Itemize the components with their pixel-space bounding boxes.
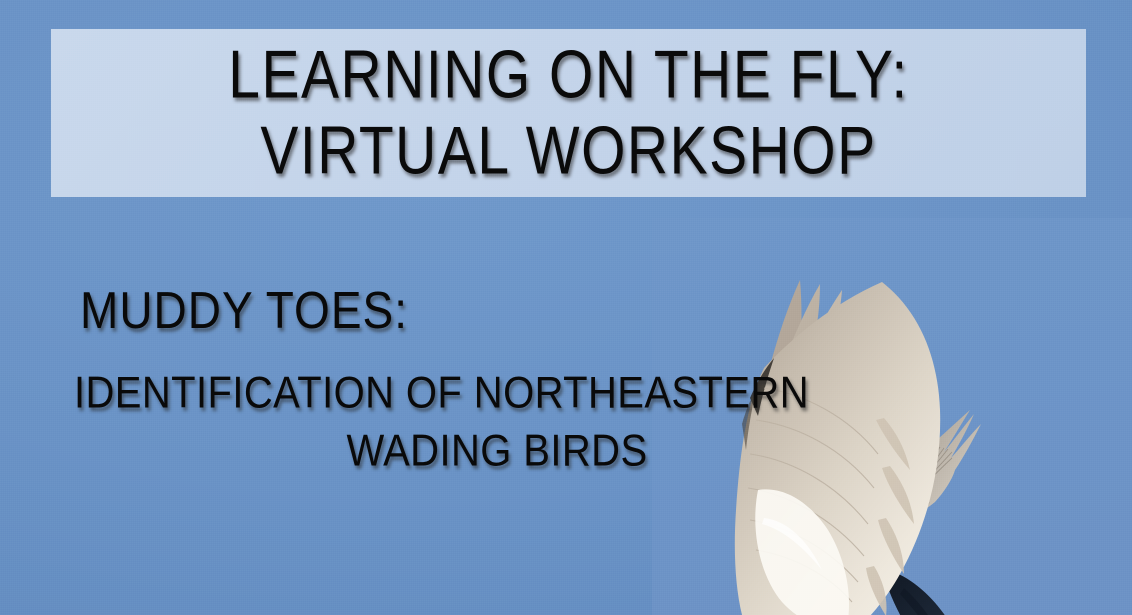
subtitle-detail-line-2: WADING BIRDS [74,419,920,484]
subtitle-block: MUDDY TOES: IDENTIFICATION OF NORTHEASTE… [74,282,934,480]
subtitle-detail: IDENTIFICATION OF NORTHEASTERN WADING BI… [74,364,920,480]
title-banner: LEARNING ON THE FLY: VIRTUAL WORKSHOP [51,29,1086,197]
presentation-slide: LEARNING ON THE FLY: VIRTUAL WORKSHOP MU… [0,0,1132,615]
subtitle-detail-line-1: IDENTIFICATION OF NORTHEASTERN [74,361,920,426]
subtitle-heading: MUDDY TOES: [80,279,934,342]
title-line-2: VIRTUAL WORKSHOP [260,106,876,196]
